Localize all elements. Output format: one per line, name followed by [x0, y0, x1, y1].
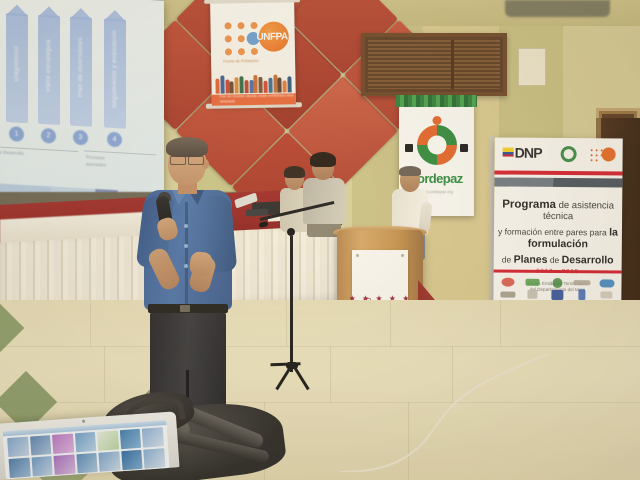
power-cable: [300, 352, 550, 472]
program-banner-header: DNP: [494, 137, 622, 170]
person-silhouette: [239, 76, 243, 93]
program-banner: DNP Programa de asistencia técnica y for…: [493, 137, 623, 314]
unfpa-footer-bar: Por un mundo donde cada embarazo sea des…: [212, 93, 296, 105]
eyeglasses-icon: [170, 156, 204, 163]
mic-stand-pole: [290, 236, 293, 372]
person-silhouette: [259, 77, 263, 93]
louver-slats: [368, 40, 500, 89]
cordepaz-top-pattern: [396, 95, 477, 107]
slide-badge-1: 1: [9, 126, 24, 142]
person-silhouette: [263, 81, 267, 93]
unfpa-tagline: Fondo de Población: [223, 58, 259, 64]
slide-chevron-1: Diagnóstico: [6, 4, 28, 123]
louver-divider: [451, 40, 454, 89]
unfpa-footer-text: Por un mundo donde cada embarazo sea des…: [220, 92, 296, 103]
chevron-label: Seguimiento y evaluación: [112, 30, 118, 108]
banner-red-rule-top: [494, 170, 622, 175]
conference-hall-photo: guía Diagnóstico Parte estratégica Plan …: [0, 0, 640, 480]
person-silhouette: [268, 78, 272, 93]
slide-chevron-2: Parte estratégica: [38, 6, 60, 125]
unfpa-people-illustration: [214, 69, 292, 93]
cordepaz-dot-icon: [432, 116, 441, 125]
slide-note-right: Procesos: [86, 154, 105, 160]
colombia-flag-icon: [503, 148, 514, 157]
slide-badge-2: 2: [41, 128, 56, 144]
wall-plate: [518, 48, 546, 86]
cordepaz-ring-logo: [417, 125, 457, 165]
belt-buckle: [180, 305, 190, 312]
person-silhouette: [273, 75, 277, 93]
equipment-case: [246, 208, 268, 216]
person-silhouette: [278, 78, 282, 93]
banner-line-3: de Planes de Desarrollo: [494, 253, 622, 266]
banner-gray-band: [494, 177, 622, 187]
unfpa-banner: UNFPA Fondo de Población Por un mundo do…: [210, 1, 296, 105]
chevron-label: Parte estratégica: [46, 39, 52, 92]
chevron-label: Plan de inversiones: [78, 37, 84, 97]
person-silhouette: [249, 80, 253, 93]
slide-note-right-2: asociados: [86, 161, 106, 167]
slide-badge-4: 4: [107, 132, 122, 148]
person-silhouette: [225, 79, 229, 93]
speaker-hair: [166, 137, 208, 157]
background-person-2: [303, 155, 345, 235]
slide-badge-3: 3: [73, 130, 88, 146]
slide-chevron-4: Seguimiento y evaluación: [104, 9, 126, 128]
ceiling-fixture: [505, 0, 610, 17]
unfpa-acronym: UNFPA: [256, 31, 287, 43]
slide-chevron-3: Plan de inversiones: [70, 8, 92, 127]
banner-line-2: y formación entre pares para la formulac…: [494, 225, 622, 250]
program-banner-body: Programa de asistencia técnica y formaci…: [494, 189, 623, 268]
person-silhouette: [244, 80, 248, 93]
partner-orange-logo: [602, 147, 616, 161]
partner-ring-logo: [561, 146, 577, 162]
banner-rod-top: [204, 0, 300, 4]
mic-boom-joint[interactable]: [287, 228, 295, 236]
louvered-window: [361, 33, 507, 96]
banner-line-1: Programa de asistencia técnica: [494, 198, 622, 222]
person-silhouette: [235, 77, 239, 93]
person-silhouette: [283, 80, 287, 92]
person-silhouette: [287, 76, 291, 92]
person-silhouette: [230, 81, 234, 93]
person-silhouette: [254, 75, 258, 93]
person-silhouette: [220, 76, 224, 94]
dnp-logo-text: DNP: [515, 145, 542, 161]
chevron-label: Diagnóstico: [14, 46, 20, 82]
slide-note-left: de Desarrollo: [0, 149, 24, 155]
person-silhouette: [215, 79, 219, 94]
